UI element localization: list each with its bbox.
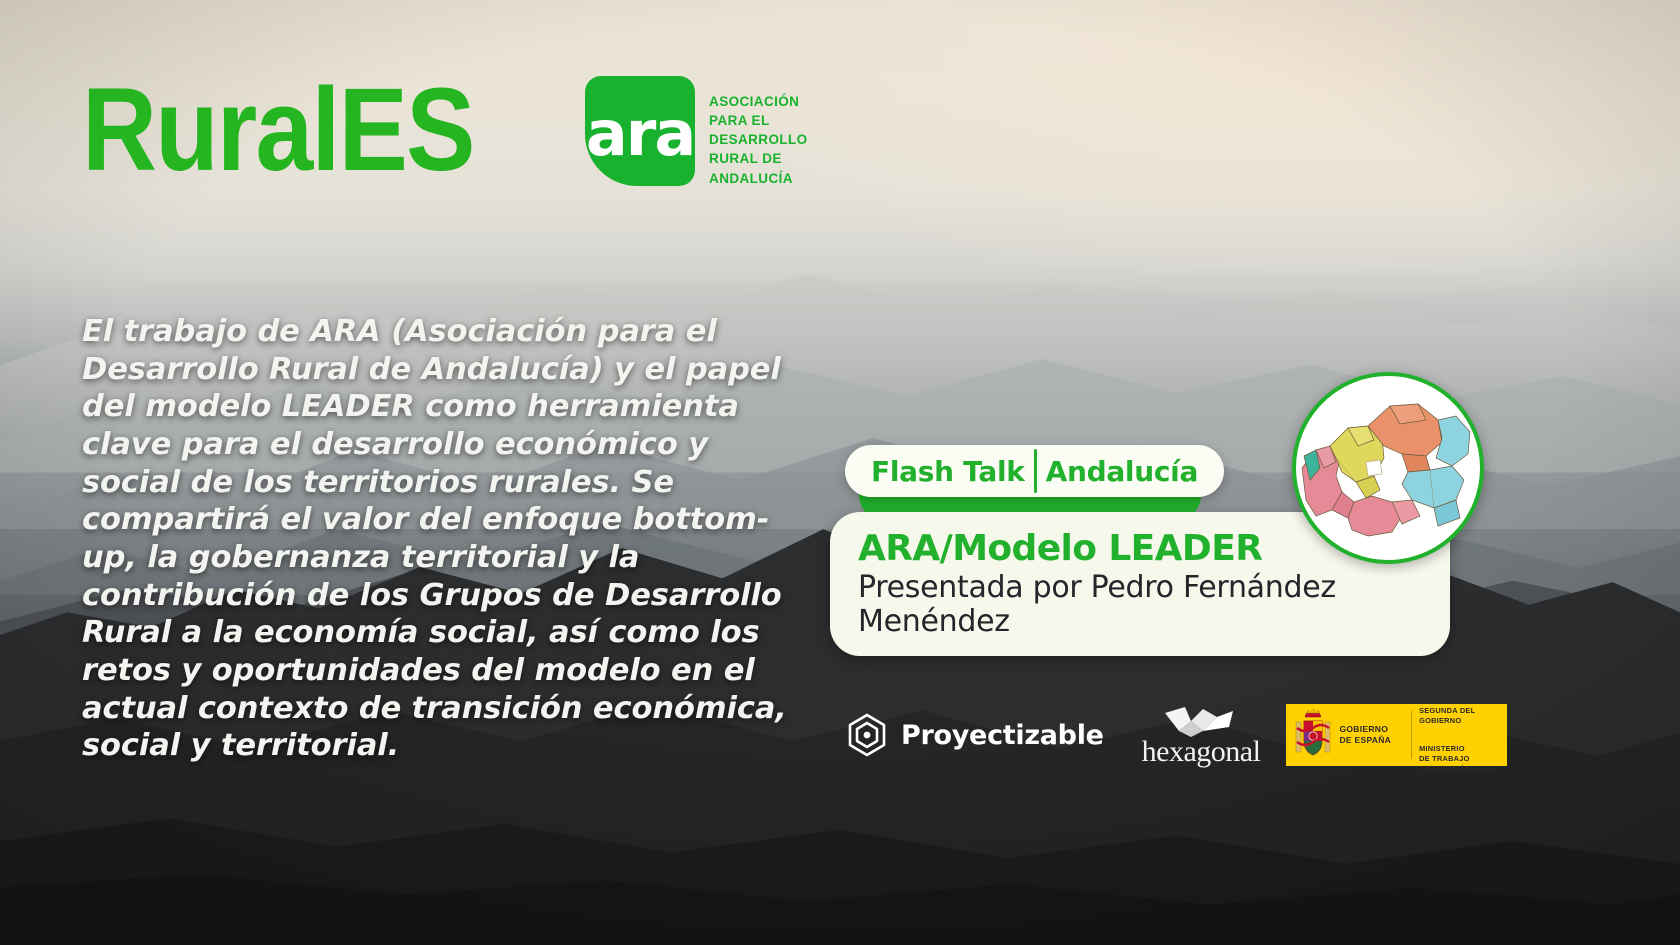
gobierno-brand: GOBIERNO DE ESPAÑA [1292, 708, 1404, 762]
brand-header: RuralES ara ASOCIACIÓN PARA EL DESARROLL… [82, 72, 808, 188]
ara-logo: ara ASOCIACIÓN PARA EL DESARROLLO RURAL … [585, 76, 808, 188]
ara-logo-caption: ASOCIACIÓN PARA EL DESARROLLO RURAL DE A… [709, 92, 808, 188]
badge-divider [1034, 449, 1037, 493]
brand-wordmark: RuralES [82, 76, 474, 185]
sponsor-hexagonal: hexagonal [1142, 705, 1261, 769]
sponsor-logos: Proyectizable hexagonal [845, 690, 1495, 780]
session-presenter: Presentada por Pedro Fernández Menéndez [858, 571, 1422, 640]
ara-logo-mark: ara [585, 76, 695, 186]
gobierno-label: GOBIERNO DE ESPAÑA [1339, 724, 1391, 747]
hexagonal-label: hexagonal [1142, 735, 1261, 769]
hexagonal-icon [1159, 705, 1243, 739]
gobierno-divider [1411, 711, 1412, 759]
abstract-text: El trabajo de ARA (Asociación para el De… [82, 313, 794, 765]
session-badge: Flash Talk Andalucía [845, 445, 1224, 497]
proyectizable-icon [845, 711, 889, 759]
andalucia-map-svg [1296, 376, 1480, 560]
presentation-slide: RuralES ara ASOCIACIÓN PARA EL DESARROLL… [0, 0, 1680, 945]
ministerio-text: VICEPRESIDENCIA SEGUNDA DEL GOBIERNO MIN… [1419, 685, 1507, 785]
sponsor-proyectizable: Proyectizable [845, 711, 1104, 759]
andalucia-map-icon [1292, 372, 1484, 564]
sponsor-gobierno-de-espana: GOBIERNO DE ESPAÑA VICEPRESIDENCIA SEGUN… [1286, 704, 1507, 766]
vicepresidencia-label: VICEPRESIDENCIA SEGUNDA DEL GOBIERNO [1419, 695, 1507, 726]
badge-format-label: Flash Talk [871, 455, 1025, 488]
badge-pill: Flash Talk Andalucía [845, 445, 1224, 497]
spain-coat-of-arms-icon [1292, 708, 1334, 762]
ministerio-label: MINISTERIO DE TRABAJO Y ECONOMÍA SOCIAL [1419, 744, 1507, 775]
ara-logo-mark-text: ara [586, 103, 694, 165]
badge-region-label: Andalucía [1046, 455, 1198, 488]
proyectizable-label: Proyectizable [901, 720, 1104, 751]
